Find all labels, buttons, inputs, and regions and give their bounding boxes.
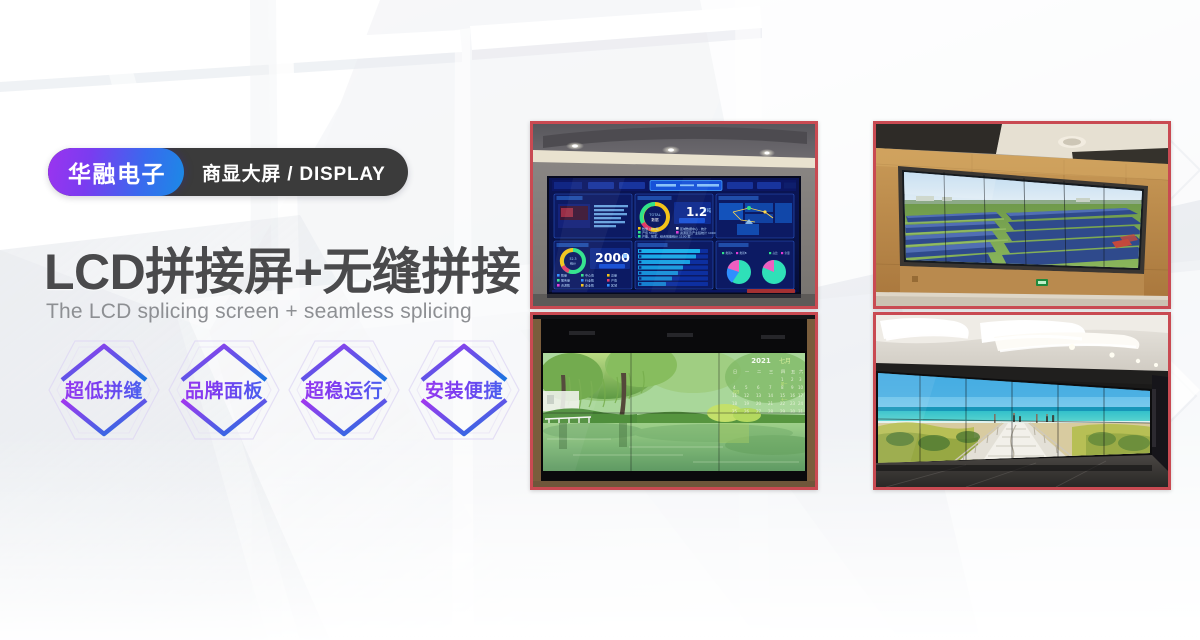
svg-text:区域: 区域 [611,283,617,288]
svg-text:六: 六 [799,368,803,375]
svg-text:数据: 数据 [651,217,659,222]
svg-text:21: 21 [768,401,774,406]
gallery-photo-beach [873,312,1171,490]
svg-text:万吨: 万吨 [702,207,712,214]
feature-list: 超低拼缝 品牌面板 超稳运行 [46,336,522,444]
svg-text:TOTAL: TOTAL [648,213,660,217]
svg-text:十一: 十一 [781,397,788,402]
feature-badge-3: 安装便捷 [406,336,522,444]
beach-wall-scene [876,315,1168,487]
svg-text:类别A: 类别A [726,251,733,255]
gallery-photo-solar [873,121,1171,309]
svg-text:23: 23 [790,401,796,406]
svg-text:10: 10 [798,385,804,390]
page-title: LCD拼接屏+无缝拼接 [44,232,520,304]
svg-text:初一: 初一 [781,381,788,386]
feature-badge-2: 超稳运行 [286,336,402,444]
svg-text:二: 二 [757,369,761,374]
svg-text:四: 四 [781,369,785,374]
category-badge: 商显大屏 / DISPLAY [184,148,408,196]
feature-label: 品牌面板 [166,376,282,403]
svg-text:七月: 七月 [779,357,791,365]
solar-wall-scene [876,124,1168,306]
calendar-year-text: 2021 [751,357,771,365]
svg-text:14: 14 [768,393,774,398]
svg-text:19: 19 [744,401,750,406]
svg-text:产值: 产值 [611,278,617,283]
svg-text:18: 18 [732,401,738,406]
feature-label: 超稳运行 [286,376,402,403]
gallery-photo-park: 2021 七月 日一二 三四五六 123 456 78910 111213 14… [530,312,818,490]
svg-text:初四: 初四 [733,389,739,394]
gallery-photo-dashboard: TOTAL 数据 1.2 万吨 数量 100 吨 产值 500亿 产能、效率、综… [530,121,818,309]
park-wall-scene: 2021 七月 日一二 三四五六 123 456 78910 111213 14… [533,315,815,487]
feature-label: 超低拼缝 [46,376,162,403]
svg-text:三: 三 [769,369,773,374]
svg-text:类别B: 类别B [740,251,747,255]
svg-text:13: 13 [756,393,762,398]
svg-text:20: 20 [756,401,762,406]
dashboard-wall-scene: TOTAL 数据 1.2 万吨 数量 100 吨 产值 500亿 产能、效率、综… [533,124,815,306]
svg-text:总量: 总量 [611,273,617,278]
feature-badge-1: 品牌面板 [166,336,282,444]
svg-text:24: 24 [798,401,804,406]
svg-text:五: 五 [791,369,795,374]
page-subtitle: The LCD splicing screen + seamless splic… [46,300,472,324]
svg-text:一: 一 [745,369,749,374]
company-badge: 华融电子 [48,148,184,196]
feature-badge-0: 超低拼缝 [46,336,162,444]
svg-text:17: 17 [798,393,804,398]
svg-text:余量: 余量 [785,251,791,255]
svg-text:16: 16 [790,393,796,398]
svg-text:12: 12 [744,393,750,398]
brand-bar: 华融电子 商显大屏 / DISPLAY [48,148,408,196]
feature-label: 安装便捷 [406,376,522,403]
svg-text:占比: 占比 [773,251,779,255]
